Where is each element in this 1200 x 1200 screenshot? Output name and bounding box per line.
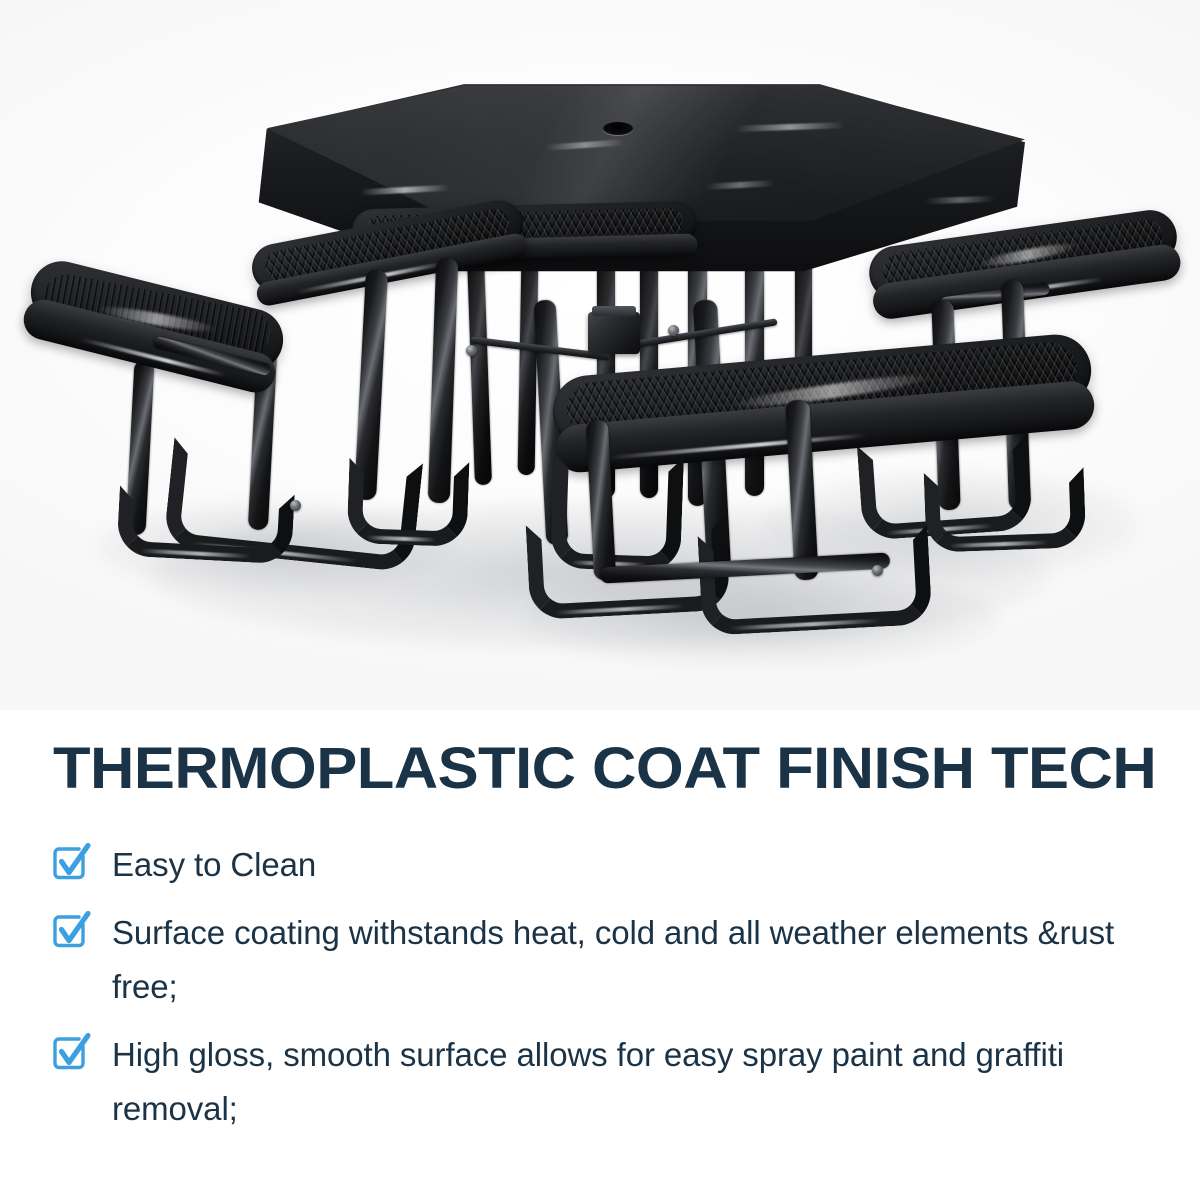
page-title: THERMOPLASTIC COAT FINISH TECH — [53, 738, 1156, 800]
feature-list: Easy to Clean Surface coating withstands… — [50, 838, 1160, 1150]
front-foot-runner-2 — [550, 453, 684, 572]
feature-item-3: High gloss, smooth surface allows for ea… — [50, 1028, 1160, 1136]
bench-left-bracket-bolt — [290, 500, 301, 511]
bench-right-foot-bend-2 — [924, 467, 1087, 553]
product-render — [0, 0, 1200, 710]
feature-text-block: THERMOPLASTIC COAT FINISH TECH Easy to C… — [0, 710, 1200, 1200]
center-hub-bracket — [588, 312, 640, 354]
feature-item-2-label: Surface coating withstands heat, cold an… — [112, 906, 1160, 1014]
hub-bolt-left — [466, 345, 477, 356]
checkbox-checked-icon — [50, 910, 90, 950]
table-foot-bend-left — [347, 458, 470, 547]
checkbox-checked-icon — [50, 1032, 90, 1072]
umbrella-hole — [603, 122, 633, 135]
checkbox-checked-icon — [50, 842, 90, 882]
feature-item-1: Easy to Clean — [50, 838, 1160, 892]
feature-item-1-label: Easy to Clean — [112, 838, 316, 892]
feature-item-3-label: High gloss, smooth surface allows for ea… — [112, 1028, 1160, 1136]
bench-left-foot-bend — [116, 485, 294, 564]
feature-item-2: Surface coating withstands heat, cold an… — [50, 906, 1160, 1014]
hub-bolt-right — [668, 325, 679, 336]
product-image — [0, 0, 1200, 710]
bench-front-crossbar-bolt — [872, 565, 883, 576]
product-feature-page: THERMOPLASTIC COAT FINISH TECH Easy to C… — [0, 0, 1200, 1200]
